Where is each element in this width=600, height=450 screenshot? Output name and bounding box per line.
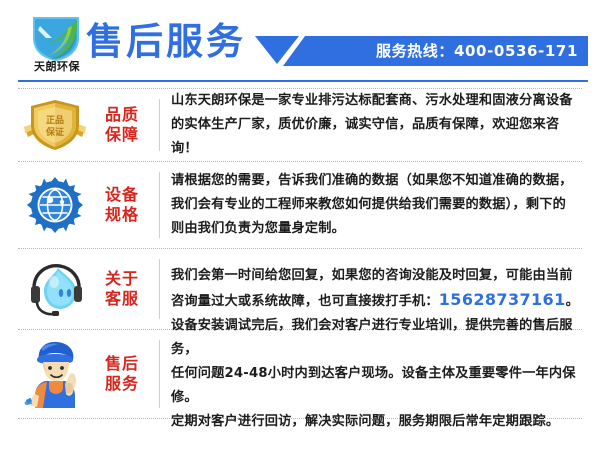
row-label-line1: 设备: [105, 185, 139, 204]
blue-gear-globe-icon: [16, 162, 94, 248]
label-divider: [159, 340, 160, 408]
body-line-tail: 。: [566, 294, 579, 309]
row-label-quality: 品质 保障: [94, 105, 150, 145]
row-body-specs: 请根据您的需要，告诉我们准确的数据（如果您不知道准确的数据， 我们会有专业的工程…: [171, 169, 586, 241]
body-line: 任何问题24-48小时内到达客户现场。设备主体及重要零件一年内保修。: [171, 362, 582, 410]
gold-shield-badge-icon: 正品 保证: [16, 89, 94, 161]
header-divider: [18, 80, 588, 82]
row-label-line2: 客服: [94, 289, 150, 309]
row-label-specs: 设备 规格: [94, 185, 150, 225]
body-line: 的实体生产厂家，质优价廉，诚实守信，品质有保障，欢迎您来咨询！: [171, 113, 582, 161]
body-line: 我们会第一时间给您回复，如果您的咨询没能及时回复，可能由当前: [171, 264, 582, 288]
row-body-aftersales: 设备安装调试完后，我们会对客户进行专业培训，提供完善的售后服务， 任何问题24-…: [171, 314, 586, 434]
row-label-line1: 售后: [105, 354, 139, 373]
body-line-with-phone: 咨询量过大或系统故障，也可直接拨打手机：15628737161。: [171, 288, 582, 314]
service-row-specs: 设备 规格 请根据您的需要，告诉我们准确的数据（如果您不知道准确的数据， 我们会…: [0, 162, 600, 248]
headset-droplet-mascot-icon: [16, 249, 94, 329]
body-line: 定期对客户进行回访，解决实际问题，服务期限后常年定期跟踪。: [171, 410, 582, 434]
body-line: 我们会有专业的工程师来教您如何提供给我们需要的数据），剩下的: [171, 193, 582, 217]
row-label-line1: 品质: [105, 105, 139, 124]
svg-text:保证: 保证: [45, 126, 64, 138]
service-row-quality: 正品 保证 品质 保障 山东天朗环保是一家专业排污达标配套商、污水处理和固液分离…: [0, 89, 600, 161]
label-divider: [159, 259, 160, 319]
label-divider: [159, 99, 160, 151]
body-line: 设备安装调试完后，我们会对客户进行专业培训，提供完善的售后服务，: [171, 314, 582, 362]
company-logo: 天朗环保: [18, 14, 96, 80]
row-label-line2: 规格: [94, 205, 150, 225]
worker-thumbs-up-icon: [16, 330, 94, 418]
after-sales-service-infographic: 天朗环保 售后服务 服务热线：400-0536-171: [0, 0, 600, 450]
row-label-line1: 关于: [105, 269, 139, 288]
body-line: 则由我们负责为您量身定制。: [171, 217, 582, 241]
page-title: 售后服务: [86, 20, 246, 64]
logo-company-name: 天朗环保: [18, 60, 96, 73]
page-header: 天朗环保 售后服务 服务热线：400-0536-171: [0, 0, 600, 86]
row-body-quality: 山东天朗环保是一家专业排污达标配套商、污水处理和固液分离设备 的实体生产厂家，质…: [171, 89, 586, 161]
support-phone-number: 15628737161: [439, 290, 566, 309]
row-label-line2: 服务: [94, 374, 150, 394]
hotline-text: 服务热线：400-0536-171: [376, 36, 578, 66]
row-label-support: 关于 客服: [94, 269, 150, 309]
body-line: 山东天朗环保是一家专业排污达标配套商、污水处理和固液分离设备: [171, 89, 582, 113]
row-body-support: 我们会第一时间给您回复，如果您的咨询没能及时回复，可能由当前 咨询量过大或系统故…: [171, 264, 586, 314]
hotline-banner: 服务热线：400-0536-171: [255, 36, 588, 66]
label-divider: [159, 172, 160, 238]
body-line-text: 咨询量过大或系统故障，也可直接拨打手机：: [171, 294, 439, 309]
body-line: 请根据您的需要，告诉我们准确的数据（如果您不知道准确的数据，: [171, 169, 582, 193]
svg-text:正品: 正品: [46, 115, 64, 126]
service-items-list: 正品 保证 品质 保障 山东天朗环保是一家专业排污达标配套商、污水处理和固液分离…: [0, 88, 600, 419]
leaf-shield-logo-icon: [28, 14, 84, 62]
row-label-aftersales: 售后 服务: [94, 354, 150, 394]
service-row-aftersales: 售后 服务 设备安装调试完后，我们会对客户进行专业培训，提供完善的售后服务， 任…: [0, 330, 600, 418]
row-label-line2: 保障: [94, 125, 150, 145]
